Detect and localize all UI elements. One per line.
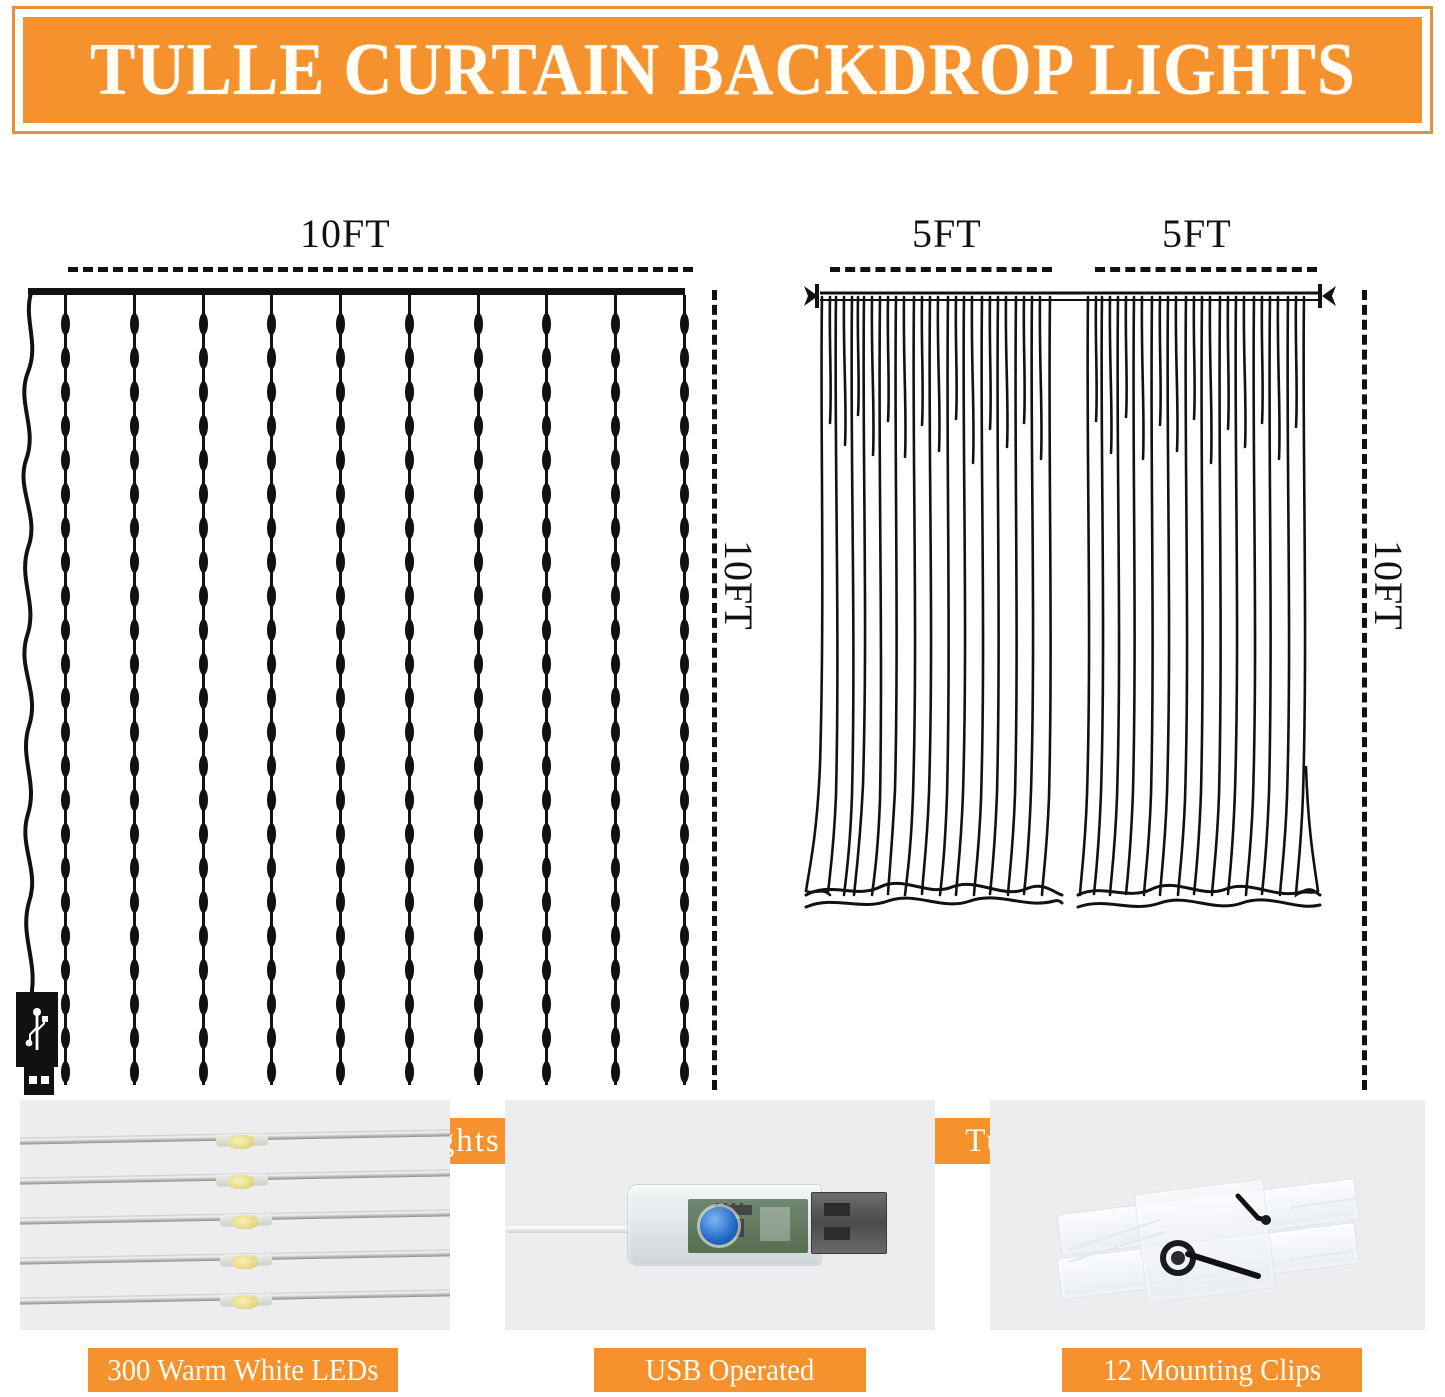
- caption-led-count-label: 300 Warm White LEDs: [107, 1352, 378, 1388]
- light-strand: [477, 295, 480, 1085]
- led-bead: [680, 891, 689, 913]
- led-bead: [267, 517, 276, 539]
- led-bead: [130, 1061, 139, 1083]
- led-bead: [336, 347, 345, 369]
- led-bead: [130, 1027, 139, 1049]
- led-bead: [130, 891, 139, 913]
- led-bead: [130, 415, 139, 437]
- led-bead: [405, 381, 414, 403]
- led-bead: [474, 857, 483, 879]
- led-bead: [474, 415, 483, 437]
- led-bead: [542, 551, 551, 573]
- led-bead: [680, 551, 689, 573]
- led-bead: [474, 959, 483, 981]
- led-bead: [61, 347, 70, 369]
- led-bead: [199, 687, 208, 709]
- led-bead: [336, 381, 345, 403]
- caption-usb-operated-label: USB Operated: [646, 1352, 815, 1388]
- header-banner: TULLE CURTAIN BACKDROP LIGHTS: [12, 6, 1433, 134]
- clip-spring-icon: [990, 1100, 1425, 1330]
- led-bead: [336, 993, 345, 1015]
- led-bead: [267, 891, 276, 913]
- led-bead: [199, 925, 208, 947]
- led-bead: [267, 755, 276, 777]
- led-bead: [130, 313, 139, 335]
- led-bead: [405, 687, 414, 709]
- led-bead: [61, 789, 70, 811]
- led-bead: [405, 1027, 414, 1049]
- tulle-width-label-left: 5FT: [912, 210, 982, 257]
- header-bar: TULLE CURTAIN BACKDROP LIGHTS: [23, 17, 1422, 123]
- led-bead: [336, 789, 345, 811]
- led-bead: [61, 857, 70, 879]
- led-bead: [130, 619, 139, 641]
- led-bead: [267, 1061, 276, 1083]
- led-bead: [336, 483, 345, 505]
- caption-mounting-clips: 12 Mounting Clips: [1062, 1348, 1362, 1392]
- led-bead: [336, 755, 345, 777]
- led-bead: [611, 415, 620, 437]
- led-bead: [267, 619, 276, 641]
- led-bead: [267, 687, 276, 709]
- led-bead: [405, 857, 414, 879]
- led-bead: [336, 823, 345, 845]
- led-bead: [611, 1027, 620, 1049]
- led-bead: [130, 653, 139, 675]
- led-bead: [680, 959, 689, 981]
- led-bead: [336, 1027, 345, 1049]
- led-bead: [130, 755, 139, 777]
- led-bead: [405, 551, 414, 573]
- led-bead: [611, 721, 620, 743]
- led-bead: [61, 925, 70, 947]
- led-bead: [611, 347, 620, 369]
- led-bead: [336, 925, 345, 947]
- led-bead: [611, 687, 620, 709]
- led-bead: [542, 925, 551, 947]
- led-bead: [199, 1027, 208, 1049]
- usb-symbol-icon: [16, 992, 58, 1067]
- usb-a-connector: [811, 1192, 887, 1254]
- usb-plug-body: [16, 992, 58, 1067]
- led-bead: [405, 619, 414, 641]
- led-bead: [611, 653, 620, 675]
- light-strand: [614, 295, 617, 1085]
- lights-width-label: 10FT: [300, 210, 391, 257]
- led-bead: [542, 823, 551, 845]
- led-bead: [130, 925, 139, 947]
- led-bead: [474, 551, 483, 573]
- led-bead: [474, 381, 483, 403]
- led-bead: [542, 313, 551, 335]
- led-bead: [405, 721, 414, 743]
- led-bead: [336, 653, 345, 675]
- led-bead: [336, 619, 345, 641]
- led-bead: [130, 347, 139, 369]
- led-bead: [336, 313, 345, 335]
- led-bead: [199, 857, 208, 879]
- led-bead: [405, 415, 414, 437]
- led-bead: [405, 993, 414, 1015]
- led-bead: [680, 483, 689, 505]
- led-bead: [267, 959, 276, 981]
- caption-led-count: 300 Warm White LEDs: [88, 1348, 398, 1392]
- led-bead: [405, 517, 414, 539]
- led-bead: [405, 483, 414, 505]
- light-strand: [545, 295, 548, 1085]
- led-bead: [61, 653, 70, 675]
- led-bead: [336, 1061, 345, 1083]
- led-bead: [611, 755, 620, 777]
- tulle-width-label-right: 5FT: [1162, 210, 1232, 257]
- led-bead: [680, 653, 689, 675]
- led-bead: [405, 959, 414, 981]
- led-bead: [611, 449, 620, 471]
- lights-top-rail: [28, 288, 685, 295]
- led-bead: [199, 449, 208, 471]
- led-bead: [199, 823, 208, 845]
- tulle-curtains-diagram: 5FT 5FT: [790, 140, 1430, 1040]
- led-bead: [61, 381, 70, 403]
- power-cord: [10, 290, 66, 1002]
- led-bead: [474, 653, 483, 675]
- led-bead: [130, 449, 139, 471]
- tulle-height-label: 10FT: [1365, 540, 1412, 631]
- led-bead: [130, 993, 139, 1015]
- lights-height-label: 10FT: [715, 540, 762, 631]
- led-bead: [680, 823, 689, 845]
- led-bead: [405, 313, 414, 335]
- led-bead: [542, 347, 551, 369]
- led-bead: [474, 347, 483, 369]
- curtain-lights-diagram: 10FT 10FT: [0, 140, 730, 1040]
- led-bead: [267, 857, 276, 879]
- led-bead: [199, 483, 208, 505]
- led-bead: [267, 415, 276, 437]
- led-bead: [474, 891, 483, 913]
- led-bead: [405, 891, 414, 913]
- tulle-height-dimension-line: [1362, 290, 1367, 1090]
- led-bead: [474, 449, 483, 471]
- led-bead: [611, 857, 620, 879]
- led-bead: [130, 789, 139, 811]
- led-bead: [542, 619, 551, 641]
- usb-controller-housing: [627, 1184, 822, 1266]
- led-bead: [680, 619, 689, 641]
- led-bead: [267, 551, 276, 573]
- led-bead: [267, 823, 276, 845]
- led-bead: [542, 687, 551, 709]
- led-bead: [611, 585, 620, 607]
- led-bead: [267, 483, 276, 505]
- led-bead: [61, 483, 70, 505]
- led-bead: [474, 619, 483, 641]
- led-bead: [542, 449, 551, 471]
- led-bead: [474, 313, 483, 335]
- led-bead: [611, 891, 620, 913]
- led-bead: [130, 381, 139, 403]
- led-bead: [611, 1061, 620, 1083]
- led-bead: [680, 1061, 689, 1083]
- led-bead: [199, 959, 208, 981]
- led-bead: [611, 925, 620, 947]
- led-bead: [336, 551, 345, 573]
- led-bead: [405, 755, 414, 777]
- led-bead: [405, 823, 414, 845]
- led-bead: [474, 483, 483, 505]
- led-bead: [680, 517, 689, 539]
- led-bead: [611, 959, 620, 981]
- led-bead: [199, 619, 208, 641]
- led-bead: [680, 687, 689, 709]
- led-bead: [61, 415, 70, 437]
- led-bead: [199, 755, 208, 777]
- led-bead: [61, 891, 70, 913]
- led-bead: [130, 721, 139, 743]
- led-bead: [474, 925, 483, 947]
- led-bead: [130, 823, 139, 845]
- led-bead: [474, 585, 483, 607]
- led-bead: [199, 551, 208, 573]
- led-bead: [611, 619, 620, 641]
- led-bead: [474, 755, 483, 777]
- led-bead: [474, 721, 483, 743]
- led-bead: [611, 517, 620, 539]
- led-bead: [130, 959, 139, 981]
- led-bead: [61, 551, 70, 573]
- light-strand: [408, 295, 411, 1085]
- tulle-width-dimension-line-right: [1095, 267, 1317, 272]
- led-bead: [336, 517, 345, 539]
- led-bead: [611, 381, 620, 403]
- led-bead: [405, 347, 414, 369]
- light-strand: [339, 295, 342, 1085]
- led-bead: [267, 721, 276, 743]
- usb-controller-photo: [505, 1100, 935, 1330]
- led-bead: [405, 1061, 414, 1083]
- led-bead: [199, 993, 208, 1015]
- led-bead: [336, 857, 345, 879]
- led-bead: [542, 755, 551, 777]
- led-bead: [267, 925, 276, 947]
- led-bead: [199, 517, 208, 539]
- led-bead: [267, 381, 276, 403]
- led-bead: [680, 857, 689, 879]
- led-bead: [542, 483, 551, 505]
- led-wire-photo: [20, 1100, 450, 1330]
- led-bead: [611, 993, 620, 1015]
- led-bead: [61, 1061, 70, 1083]
- led-bead: [267, 789, 276, 811]
- led-bead: [405, 925, 414, 947]
- led-bead: [61, 687, 70, 709]
- led-bead: [542, 585, 551, 607]
- led-bead: [130, 687, 139, 709]
- led-bead: [542, 959, 551, 981]
- led-bead: [405, 585, 414, 607]
- led-bead: [680, 925, 689, 947]
- led-bead: [542, 1061, 551, 1083]
- lights-height-dimension-line: [712, 290, 717, 1090]
- led-bead: [130, 483, 139, 505]
- mounting-clip-photo: [990, 1100, 1425, 1330]
- led-bead: [336, 585, 345, 607]
- led-bead: [474, 789, 483, 811]
- led-bead: [336, 449, 345, 471]
- led-bead: [61, 585, 70, 607]
- light-strand: [270, 295, 273, 1085]
- page-title: TULLE CURTAIN BACKDROP LIGHTS: [90, 28, 1356, 113]
- led-bead: [680, 347, 689, 369]
- led-bead: [680, 993, 689, 1015]
- led-bead: [405, 449, 414, 471]
- led-bead: [130, 585, 139, 607]
- led-bead: [61, 721, 70, 743]
- led-bead: [474, 517, 483, 539]
- led-bead: [199, 721, 208, 743]
- led-bead: [405, 653, 414, 675]
- light-strand: [64, 295, 67, 1085]
- led-bead: [61, 313, 70, 335]
- led-bead: [542, 653, 551, 675]
- led-bead: [199, 347, 208, 369]
- led-bead: [61, 517, 70, 539]
- led-bead: [336, 415, 345, 437]
- led-bead: [611, 823, 620, 845]
- led-bead: [336, 687, 345, 709]
- led-bead: [130, 857, 139, 879]
- led-bead: [199, 653, 208, 675]
- led-bead: [267, 653, 276, 675]
- led-bead: [61, 619, 70, 641]
- led-bead: [199, 789, 208, 811]
- led-bead: [680, 381, 689, 403]
- led-bead: [199, 415, 208, 437]
- led-bead: [267, 585, 276, 607]
- light-strand: [133, 295, 136, 1085]
- lights-width-dimension-line: [68, 267, 693, 272]
- led-bead: [542, 1027, 551, 1049]
- led-bead: [474, 687, 483, 709]
- led-bead: [61, 993, 70, 1015]
- led-bead: [474, 823, 483, 845]
- led-bead: [199, 1061, 208, 1083]
- led-bead: [267, 1027, 276, 1049]
- led-bead: [542, 415, 551, 437]
- led-bead: [680, 415, 689, 437]
- led-bead: [542, 381, 551, 403]
- led-bead: [680, 789, 689, 811]
- led-bead: [61, 823, 70, 845]
- led-bead: [130, 517, 139, 539]
- led-bead: [130, 551, 139, 573]
- led-bead: [199, 891, 208, 913]
- led-bead: [61, 959, 70, 981]
- led-bead: [61, 1027, 70, 1049]
- light-strand: [202, 295, 205, 1085]
- led-bead: [336, 721, 345, 743]
- led-bead: [680, 721, 689, 743]
- led-bead: [267, 449, 276, 471]
- led-bead: [680, 585, 689, 607]
- led-bead: [680, 449, 689, 471]
- led-bead: [680, 313, 689, 335]
- tulle-panels: [800, 295, 1340, 955]
- led-bead: [611, 483, 620, 505]
- led-bead: [542, 517, 551, 539]
- led-bead: [199, 381, 208, 403]
- led-bead: [267, 313, 276, 335]
- led-bead: [199, 313, 208, 335]
- led-bead: [611, 313, 620, 335]
- led-bead: [474, 1027, 483, 1049]
- light-strand: [683, 295, 686, 1085]
- led-bead: [405, 789, 414, 811]
- tulle-width-dimension-line-left: [830, 267, 1052, 272]
- led-bead: [474, 1061, 483, 1083]
- led-bead: [542, 789, 551, 811]
- led-bead: [474, 993, 483, 1015]
- led-bead: [542, 891, 551, 913]
- led-bead: [542, 721, 551, 743]
- diagram-area: 10FT 10FT: [0, 140, 1445, 1040]
- led-bead: [611, 551, 620, 573]
- led-bead: [542, 993, 551, 1015]
- led-bead: [336, 959, 345, 981]
- led-bead: [611, 789, 620, 811]
- led-bead: [61, 755, 70, 777]
- caption-usb-operated: USB Operated: [594, 1348, 866, 1392]
- led-bead: [199, 585, 208, 607]
- usb-plug-tip: [24, 1065, 54, 1095]
- usb-mode-button[interactable]: [700, 1207, 738, 1245]
- led-bead: [680, 1027, 689, 1049]
- led-bead: [267, 347, 276, 369]
- led-bead: [542, 857, 551, 879]
- led-bead: [680, 755, 689, 777]
- led-bead: [336, 891, 345, 913]
- led-bead: [61, 449, 70, 471]
- caption-mounting-clips-label: 12 Mounting Clips: [1103, 1352, 1321, 1388]
- led-bead: [267, 993, 276, 1015]
